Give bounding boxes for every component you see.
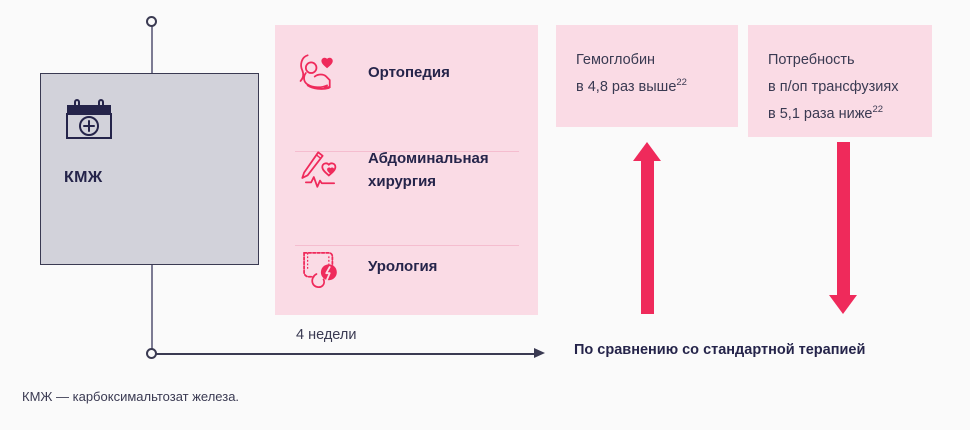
treatment-box: КМЖ <box>40 73 259 265</box>
treatment-label: КМЖ <box>64 169 102 187</box>
outcome-line-2: в п/оп трансфузиях <box>768 74 912 101</box>
outcome-reference: 22 <box>873 104 884 115</box>
outcome-line-2-text: в 4,8 раз выше <box>576 79 676 95</box>
outcome-line-1: Гемоглобин <box>576 47 718 74</box>
outcome-line-3: в 5,1 раза ниже22 <box>768 101 912 128</box>
comparison-caption: По сравнению со стандартной терапией <box>574 342 865 358</box>
outcome-line-2: в 4,8 раз выше22 <box>576 74 718 101</box>
arrow-up-icon <box>633 142 662 314</box>
specialty-item-abdominal-surgery: Абдоминальная хирургия <box>275 122 538 218</box>
outcome-line-3-text: в 5,1 раза ниже <box>768 106 873 122</box>
specialty-label: Ортопедия <box>368 61 450 84</box>
specialty-label: Урология <box>368 255 437 278</box>
timeline-axis-line <box>156 353 536 355</box>
arrow-up-shaft <box>641 158 654 314</box>
arrow-down-head <box>829 295 857 314</box>
outcome-line-1: Потребность <box>768 47 912 74</box>
medical-kit-plus-icon <box>63 96 115 142</box>
footnote: КМЖ — карбоксимальтозат железа. <box>22 389 239 404</box>
intestine-bladder-icon <box>292 244 348 290</box>
specialty-item-urology: Урология <box>275 219 538 315</box>
infographic-canvas: 4 недели КМЖ <box>0 0 970 430</box>
arrow-down-icon <box>829 142 858 314</box>
mother-baby-heart-icon <box>292 50 348 96</box>
scalpel-heart-ecg-icon <box>292 147 348 193</box>
timeline-start-marker-top <box>146 16 157 27</box>
specialties-panel: Ортопедия Абдоминальная хирургия <box>275 25 538 315</box>
outcome-box-hemoglobin: Гемоглобин в 4,8 раз выше22 <box>556 25 738 127</box>
specialty-label: Абдоминальная хирургия <box>368 147 538 194</box>
timeline-duration-label: 4 недели <box>296 327 356 343</box>
outcome-reference: 22 <box>676 77 687 88</box>
outcome-box-transfusions: Потребность в п/оп трансфузиях в 5,1 раз… <box>748 25 932 137</box>
arrow-down-shaft <box>837 142 850 298</box>
specialty-item-orthopedics: Ортопедия <box>275 25 538 121</box>
timeline-arrow-icon <box>534 348 545 358</box>
